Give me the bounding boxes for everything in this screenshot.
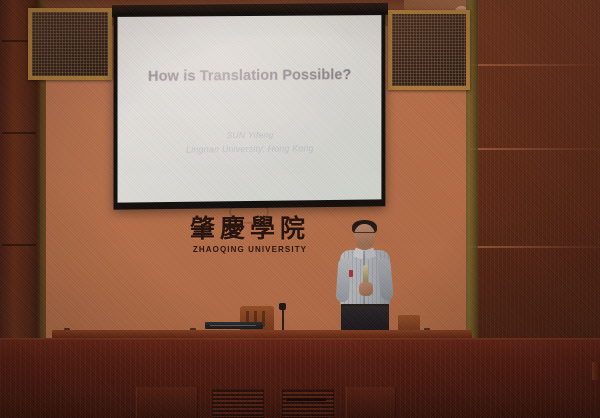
lecture-hall-photo: How is Translation Possible? SUN Yifeng …: [0, 0, 600, 418]
eyeglasses-icon: [354, 232, 375, 237]
microphone-head-icon: [279, 303, 286, 310]
acoustic-panel-right: [388, 10, 470, 90]
presenter-hands: [359, 282, 373, 296]
stage-vent-bar: [286, 398, 326, 401]
right-wall-grain: [470, 0, 600, 348]
presenter-name-badge: [349, 270, 353, 277]
laptop-edge-highlight: [210, 325, 256, 326]
screen-surface: How is Translation Possible? SUN Yifeng …: [118, 15, 382, 203]
stage-right-edge: [592, 362, 600, 380]
emblem-chinese-name: 肇慶學院: [170, 216, 330, 241]
stage-vent-left: [212, 389, 264, 418]
projection-screen: How is Translation Possible? SUN Yifeng …: [113, 11, 385, 210]
slide-title: How is Translation Possible?: [118, 67, 382, 85]
slide-subtitle-author: SUN Yifeng: [118, 129, 382, 142]
panel-mesh: [32, 12, 108, 76]
panel-mesh: [392, 14, 466, 86]
presenter: [332, 218, 398, 336]
left-column-seam: [2, 244, 36, 246]
stage-vent-right: [282, 389, 334, 418]
presenter-arm-right: [377, 258, 394, 301]
stage-access-door: [136, 387, 198, 418]
right-wall-seam: [470, 148, 600, 150]
zhaoqing-university-emblem: 肇慶學院 ZHAOQING UNIVERSITY: [170, 216, 330, 254]
right-wall-seam: [470, 246, 600, 248]
acoustic-panel-left: [28, 8, 112, 80]
left-column-seam: [2, 132, 36, 134]
emblem-english-name: ZHAOQING UNIVERSITY: [170, 245, 330, 254]
slide-subtitle-affiliation: Lingnan University, Hong Kong: [118, 143, 382, 156]
right-wall-seam: [470, 64, 600, 66]
stage-access-door: [346, 387, 396, 418]
